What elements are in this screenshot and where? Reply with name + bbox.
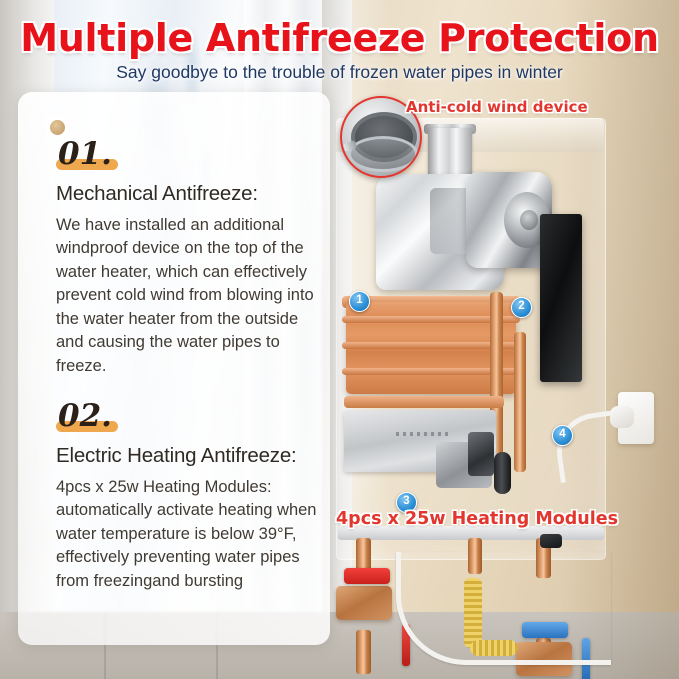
exhaust-flue [428, 128, 472, 180]
hot-valve-handle [344, 568, 390, 584]
black-module-panel [540, 214, 582, 382]
manifold-vents-icon [396, 432, 450, 436]
page-title: Multiple Antifreeze Protection [0, 16, 679, 60]
copper-pipe [514, 332, 526, 472]
section-number: 02. [58, 398, 112, 434]
section-number-badge: 02. [56, 398, 118, 434]
infographic-canvas: Multiple Antifreeze Protection Say goodb… [0, 0, 679, 679]
copper-pipe [344, 396, 504, 408]
product-illustration [318, 96, 679, 679]
heating-modules-label: 4pcs x 25w Heating Modules [336, 509, 618, 529]
callout-badge-1[interactable]: 1 [349, 291, 370, 312]
section-mechanical-antifreeze: 01. Mechanical Antifreeze: We have insta… [56, 136, 328, 378]
callout-badge-4[interactable]: 4 [552, 425, 573, 446]
section-body: 4pcs x 25w Heating Modules: automaticall… [56, 476, 328, 593]
inset-label: Anti-cold wind device [406, 98, 588, 116]
section-title: Mechanical Antifreeze: [56, 182, 328, 206]
power-plug [610, 406, 634, 428]
wind-device-flap [348, 136, 418, 172]
section-number: 01. [58, 136, 112, 172]
section-title: Electric Heating Antifreeze: [56, 444, 328, 468]
section-body: We have installed an additional windproo… [56, 214, 328, 378]
black-cylinder-component [494, 452, 511, 494]
blower-hub-center [520, 210, 538, 230]
callout-badge-2[interactable]: 2 [511, 297, 532, 318]
valve-block [468, 432, 494, 476]
fan-housing-detail [430, 188, 470, 254]
decorative-dot-icon [50, 120, 65, 135]
bottom-plumbing [318, 534, 679, 679]
black-fitting-cap [540, 534, 562, 548]
info-card: 01. Mechanical Antifreeze: We have insta… [18, 92, 330, 645]
section-electric-heating-antifreeze: 02. Electric Heating Antifreeze: 4pcs x … [56, 398, 328, 593]
hot-water-valve-body [336, 586, 392, 620]
hot-water-pipe [356, 630, 371, 674]
white-condensate-hose [396, 552, 611, 665]
page-subtitle: Say goodbye to the trouble of frozen wat… [0, 62, 679, 83]
section-number-badge: 01. [56, 136, 118, 172]
